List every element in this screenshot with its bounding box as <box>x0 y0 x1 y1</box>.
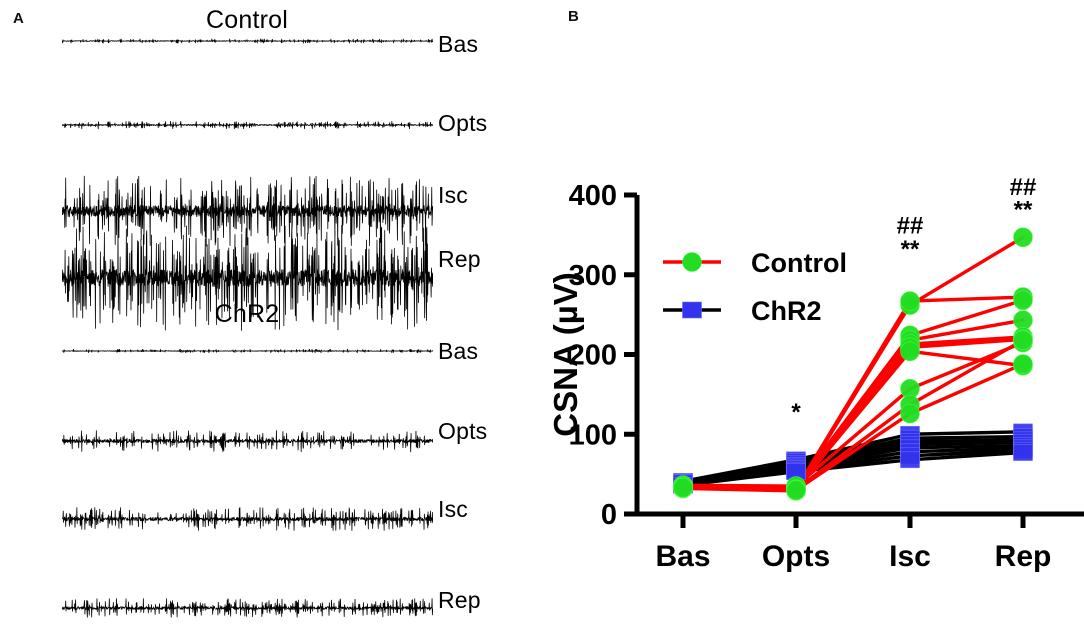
trace-chr2-opts <box>62 407 433 475</box>
legend-marker-control <box>683 253 702 272</box>
data-point-control <box>1014 291 1033 310</box>
x-tick-label: Bas <box>655 540 710 573</box>
trace-chr2-rep <box>62 578 433 638</box>
trace-label-chr2-opts: Opts <box>438 420 487 443</box>
x-tick-label: Opts <box>762 540 830 573</box>
legend-marker-chr2 <box>683 302 702 318</box>
group-title-chr2: ChR2 <box>62 300 432 329</box>
csna-line-chart: 0100200300400CSNA (µV)BasOptsIscRep***##… <box>545 0 1084 631</box>
significance-marker: ## <box>1010 174 1037 201</box>
data-point-chr2 <box>1014 445 1033 461</box>
data-point-control <box>787 481 806 500</box>
legend-label-control: Control <box>751 248 847 278</box>
data-point-control <box>901 404 920 423</box>
data-point-control <box>901 292 920 311</box>
data-point-control <box>901 342 920 361</box>
trace-chr2-bas <box>62 338 433 364</box>
trace-label-control-rep: Rep <box>438 248 481 271</box>
panel-a: A Control Bas Opts Isc Rep ChR2 Bas Opts… <box>0 0 545 631</box>
series-line-control <box>683 351 1023 488</box>
trace-label-chr2-bas: Bas <box>438 340 478 363</box>
y-tick-label: 0 <box>601 499 617 531</box>
significance-marker: ** <box>901 236 920 263</box>
panel-a-letter: A <box>13 10 24 27</box>
y-tick-label: 400 <box>569 180 617 212</box>
data-point-control <box>1014 311 1033 330</box>
data-point-control <box>1014 355 1033 374</box>
trace-label-chr2-isc: Isc <box>438 498 468 521</box>
data-point-control <box>1014 228 1033 247</box>
data-point-control <box>674 478 693 497</box>
x-tick-label: Rep <box>995 540 1052 573</box>
data-point-control <box>1014 331 1033 350</box>
data-point-chr2 <box>901 452 920 468</box>
trace-label-control-isc: Isc <box>438 184 468 207</box>
trace-label-chr2-rep: Rep <box>438 589 481 612</box>
y-axis-title: CSNA (µV) <box>547 272 584 436</box>
panel-b: B 0100200300400CSNA (µV)BasOptsIscRep***… <box>545 0 1084 631</box>
trace-control-opts <box>62 105 433 145</box>
trace-label-control-opts: Opts <box>438 112 487 135</box>
significance-marker: ## <box>897 212 924 239</box>
significance-marker: * <box>791 399 801 426</box>
x-tick-label: Isc <box>889 540 931 573</box>
trace-control-bas <box>62 27 433 55</box>
trace-label-control-bas: Bas <box>438 33 478 56</box>
trace-chr2-isc <box>62 485 433 553</box>
legend-label-chr2: ChR2 <box>751 296 822 326</box>
